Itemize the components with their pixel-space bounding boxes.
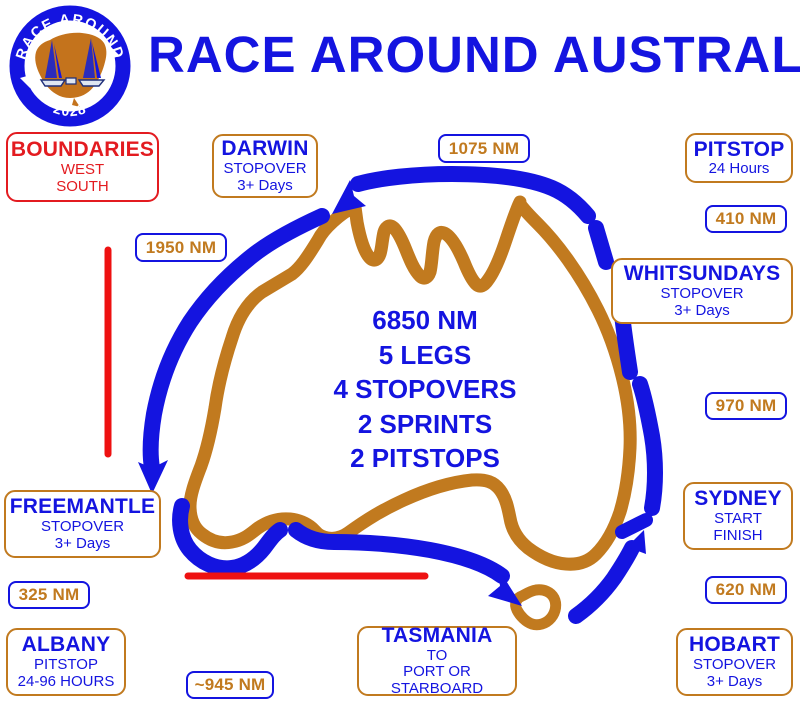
race-around-australia-logo: RACE AROUND 2028 — [8, 4, 132, 128]
distance-pill-970: 970 NM — [705, 392, 787, 420]
boundaries-south: SOUTH — [56, 179, 109, 196]
stat-pitstops: 2 PITSTOPS — [300, 441, 550, 476]
page-title: RACE AROUND AUSTRALIA — [148, 25, 788, 84]
boundaries-west: WEST — [61, 162, 104, 179]
distance-pill-410: 410 NM — [705, 205, 787, 233]
route-south-leg — [296, 530, 502, 576]
port-box-sydney[interactable]: SYDNEY START FINISH — [683, 482, 793, 550]
port-name-whitsundays: WHITSUNDAYS — [624, 262, 781, 286]
port-type-tasmania: TO — [427, 648, 448, 665]
port-name-albany: ALBANY — [22, 633, 111, 657]
port-type-pitstop-top-right: 24 Hours — [709, 161, 770, 178]
port-box-hobart[interactable]: HOBART STOPOVER 3+ Days — [676, 628, 793, 696]
port-name-sydney: SYDNEY — [694, 487, 782, 511]
port-duration-darwin: 3+ Days — [237, 178, 292, 195]
boundaries-box: BOUNDARIES WEST SOUTH — [6, 132, 159, 202]
port-name-hobart: HOBART — [689, 633, 780, 657]
port-box-albany[interactable]: ALBANY PITSTOP 24-96 HOURS — [6, 628, 126, 696]
port-duration-hobart: 3+ Days — [707, 674, 762, 691]
infographic-canvas: RACE AROUND 2028 RACE AROUND AUSTRALIA B… — [0, 0, 800, 704]
port-duration-whitsundays: 3+ Days — [674, 303, 729, 320]
distance-pill-325: 325 NM — [8, 581, 90, 609]
distance-pill-945: ~945 NM — [186, 671, 274, 699]
route-dash-sydney — [622, 520, 646, 532]
race-stats: 6850 NM 5 LEGS 4 STOPOVERS 2 SPRINTS 2 P… — [300, 303, 550, 476]
port-type-darwin: STOPOVER — [223, 161, 306, 178]
port-box-darwin[interactable]: DARWIN STOPOVER 3+ Days — [212, 134, 318, 198]
boundaries-title: BOUNDARIES — [11, 138, 154, 162]
port-box-whitsundays[interactable]: WHITSUNDAYS STOPOVER 3+ Days — [611, 258, 793, 324]
route-east-coast-leg — [640, 384, 655, 508]
port-type-freemantle: STOPOVER — [41, 519, 124, 536]
route-dash-whitsundays — [596, 228, 606, 262]
port-box-freemantle[interactable]: FREEMANTLE STOPOVER 3+ Days — [4, 490, 161, 558]
stat-total-distance: 6850 NM — [300, 303, 550, 338]
port-type-whitsundays: STOPOVER — [660, 286, 743, 303]
port-duration-albany: 24-96 HOURS — [18, 674, 115, 691]
port-duration-freemantle: 3+ Days — [55, 536, 110, 553]
route-north-leg — [358, 174, 588, 216]
stat-sprints: 2 SPRINTS — [300, 407, 550, 442]
port-name-pitstop-top-right: PITSTOP — [694, 138, 785, 162]
port-name-tasmania: TASMANIA — [382, 624, 493, 648]
port-name-freemantle: FREEMANTLE — [10, 495, 156, 519]
port-duration-sydney: FINISH — [713, 528, 762, 545]
distance-pill-1075: 1075 NM — [438, 134, 530, 163]
tasmania-outline — [516, 590, 556, 625]
port-box-pitstop-top-right[interactable]: PITSTOP 24 Hours — [685, 133, 793, 183]
stat-stopovers: 4 STOPOVERS — [300, 372, 550, 407]
port-duration-tasmania: PORT OR STARBOARD — [365, 664, 509, 698]
distance-pill-1950: 1950 NM — [135, 233, 227, 262]
stat-legs: 5 LEGS — [300, 338, 550, 373]
port-type-hobart: STOPOVER — [693, 657, 776, 674]
port-box-tasmania[interactable]: TASMANIA TO PORT OR STARBOARD — [357, 626, 517, 696]
port-type-albany: PITSTOP — [34, 657, 98, 674]
distance-pill-620: 620 NM — [705, 576, 787, 604]
port-type-sydney: START — [714, 511, 762, 528]
port-name-darwin: DARWIN — [221, 137, 308, 161]
